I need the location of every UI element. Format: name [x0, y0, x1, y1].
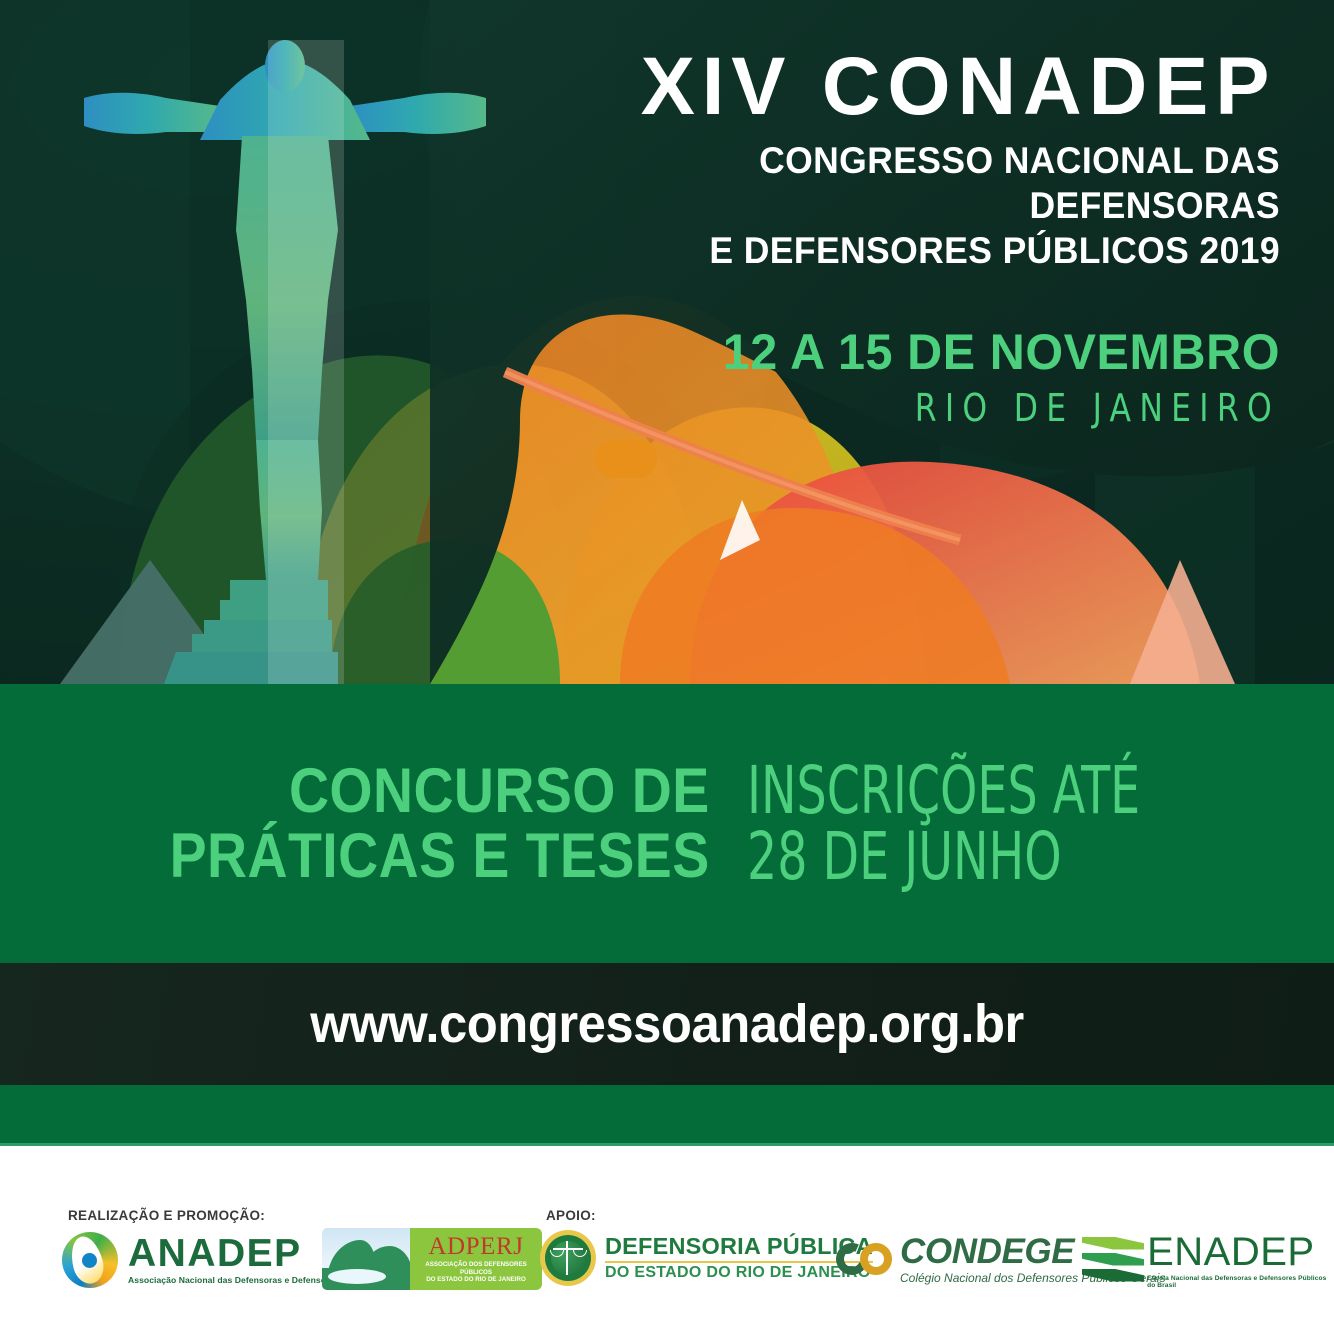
- adperj-tagline-line-2: DO ESTADO DO RIO DE JANEIRO: [410, 1276, 542, 1284]
- event-date: 12 A 15 DE NOVEMBRO: [562, 325, 1280, 380]
- event-city: RIO DE JANEIRO: [599, 386, 1280, 432]
- deadline-line-2: 28 DE JUNHO: [747, 824, 1140, 890]
- enadep-name: ENADEP: [1147, 1232, 1334, 1272]
- concurso-title-line-2: PRÁTICAS E TESES: [169, 824, 709, 888]
- anadep-mark-icon: [62, 1232, 118, 1288]
- adperj-name: ADPERJ: [428, 1234, 523, 1259]
- defensoria-tagline: DO ESTADO DO RIO DE JANEIRO: [605, 1265, 873, 1281]
- hero-artwork: XIV CONADEP CONGRESSO NACIONAL DAS DEFEN…: [0, 0, 1334, 684]
- website-url[interactable]: www.congressoanadep.org.br: [40, 963, 1294, 1085]
- enadep-tagline: Escola Nacional das Defensoras e Defenso…: [1147, 1275, 1334, 1289]
- page-subtitle-line-2: E DEFENSORES PÚBLICOS 2019: [570, 228, 1280, 273]
- deadline-line-1: INSCRIÇÕES ATÉ: [747, 758, 1140, 824]
- adperj-tagline-line-1: ASSOCIAÇÃO DOS DEFENSORES PÚBLICOS: [410, 1261, 542, 1277]
- defensoria-name: DEFENSORIA PÚBLICA: [605, 1235, 873, 1259]
- adperj-tagline: ASSOCIAÇÃO DOS DEFENSORES PÚBLICOS DO ES…: [410, 1261, 542, 1284]
- logo-adperj[interactable]: ADPERJ ASSOCIAÇÃO DOS DEFENSORES PÚBLICO…: [322, 1228, 542, 1290]
- adperj-landscape-icon: [322, 1228, 410, 1290]
- defensoria-seal-icon: [540, 1230, 596, 1286]
- realizacao-label: REALIZAÇÃO E PROMOÇÃO:: [68, 1208, 265, 1223]
- christ-the-redeemer-icon: [70, 40, 500, 684]
- concurso-band: CONCURSO DE PRÁTICAS E TESES INSCRIÇÕES …: [0, 684, 1334, 963]
- defensoria-rule: [605, 1261, 873, 1263]
- hero-text-block: XIV CONADEP CONGRESSO NACIONAL DAS DEFEN…: [540, 46, 1280, 432]
- website-band: www.congressoanadep.org.br: [0, 963, 1334, 1085]
- logo-enadep[interactable]: ENADEP Escola Nacional das Defensoras e …: [1082, 1232, 1334, 1289]
- logo-defensoria-publica-rj[interactable]: DEFENSORIA PÚBLICA DO ESTADO DO RIO DE J…: [540, 1230, 873, 1286]
- concurso-title-line-1: CONCURSO DE: [169, 759, 709, 823]
- enadep-chevron-icon: [1082, 1237, 1137, 1285]
- condege-infinity-icon: [836, 1243, 894, 1277]
- concurso-title: CONCURSO DE PRÁTICAS E TESES: [169, 759, 709, 888]
- apoio-label: APOIO:: [546, 1208, 596, 1223]
- concurso-deadline: INSCRIÇÕES ATÉ 28 DE JUNHO: [747, 758, 1140, 890]
- footer-green-strip: [0, 1085, 1334, 1143]
- poster-canvas: XIV CONADEP CONGRESSO NACIONAL DAS DEFEN…: [0, 0, 1334, 1334]
- page-subtitle-line-1: CONGRESSO NACIONAL DAS DEFENSORAS: [570, 138, 1280, 228]
- page-title: XIV CONADEP: [544, 46, 1277, 128]
